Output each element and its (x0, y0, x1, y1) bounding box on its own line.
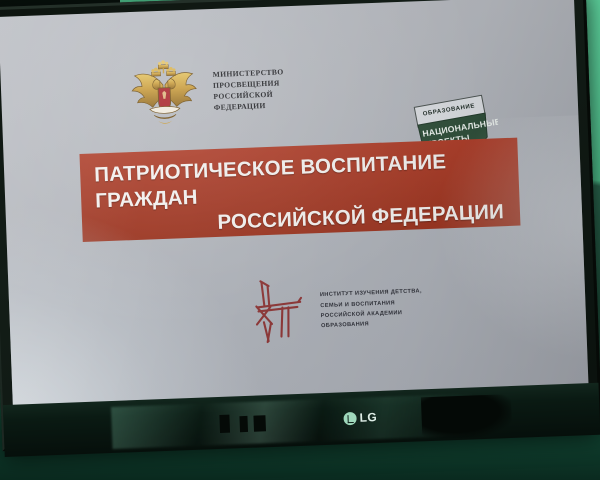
lg-brand-label: LG (359, 410, 377, 425)
tv-bezel-reflection-detail (253, 415, 266, 431)
lg-brand-logo: LG (343, 410, 377, 425)
slide-title-banner: ПАТРИОТИЧЕСКОЕ ВОСПИТАНИЕ ГРАЖДАН РОССИЙ… (79, 138, 520, 242)
tv-bezel-dark-reflection (421, 394, 513, 439)
tv-screen: МИНИСТЕРСТВО ПРОСВЕЩЕНИЯ РОССИЙСКОЙ ФЕДЕ… (0, 0, 589, 407)
ministry-name-text: МИНИСТЕРСТВО ПРОСВЕЩЕНИЯ РОССИЙСКОЙ ФЕДЕ… (212, 68, 285, 114)
television: МИНИСТЕРСТВО ПРОСВЕЩЕНИЯ РОССИЙСКОЙ ФЕДЕ… (0, 0, 600, 458)
deer-line-art-logo-icon (246, 276, 311, 350)
institute-logo-block: ИНСТИТУТ ИЗУЧЕНИЯ ДЕТСТВА, СЕМЬИ И ВОСПИ… (246, 271, 424, 350)
presentation-slide: МИНИСТЕРСТВО ПРОСВЕЩЕНИЯ РОССИЙСКОЙ ФЕДЕ… (0, 0, 589, 407)
lg-face-icon (343, 411, 356, 424)
slide-title-text: ПАТРИОТИЧЕСКОЕ ВОСПИТАНИЕ ГРАЖДАН РОССИЙ… (94, 147, 509, 241)
photo-scene: МИНИСТЕРСТВО ПРОСВЕЩЕНИЯ РОССИЙСКОЙ ФЕДЕ… (0, 0, 600, 480)
tv-bezel-reflection-detail (239, 416, 248, 432)
russian-double-headed-eagle-emblem-icon (126, 57, 203, 130)
tv-bezel-reflection-detail (219, 415, 230, 433)
ministry-line-4: ФЕДЕРАЦИИ (214, 100, 285, 113)
ministry-logo-block: МИНИСТЕРСТВО ПРОСВЕЩЕНИЯ РОССИЙСКОЙ ФЕДЕ… (126, 54, 285, 130)
institute-name-text: ИНСТИТУТ ИЗУЧЕНИЯ ДЕТСТВА, СЕМЬИ И ВОСПИ… (320, 287, 424, 332)
